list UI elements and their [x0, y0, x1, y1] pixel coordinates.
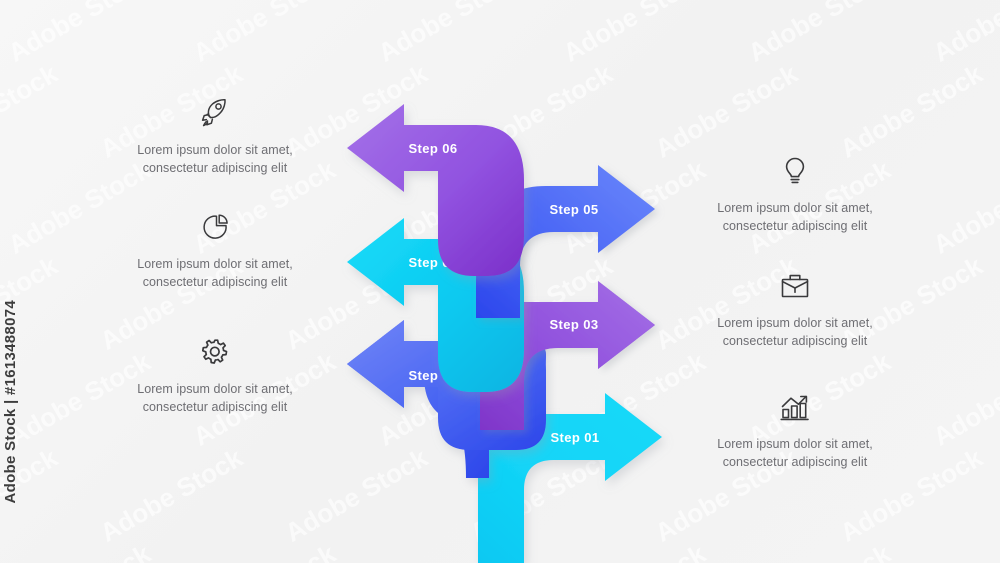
lightbulb-icon — [675, 150, 915, 192]
growth-chart-icon — [675, 386, 915, 428]
desc-line-1: Lorem ipsum dolor sit amet, — [95, 142, 335, 160]
desc-line-2: consectetur adipiscing elit — [675, 454, 915, 472]
desc-line-2: consectetur adipiscing elit — [675, 218, 915, 236]
side-item-left-2[interactable]: Lorem ipsum dolor sit amet, consectetur … — [95, 206, 335, 292]
side-item-right-2[interactable]: Lorem ipsum dolor sit amet, consectetur … — [675, 265, 915, 351]
arrow-step-03-label: Step 03 — [549, 317, 598, 332]
desc-line-1: Lorem ipsum dolor sit amet, — [95, 381, 335, 399]
desc-line-2: consectetur adipiscing elit — [95, 399, 335, 417]
desc-line-2: consectetur adipiscing elit — [95, 160, 335, 178]
desc-line-2: consectetur adipiscing elit — [675, 333, 915, 351]
arrow-step-06-label: Step 06 — [408, 141, 457, 156]
infographic-canvas: Adobe StockAdobe StockAdobe StockAdobe S… — [0, 0, 1000, 563]
arrow-step-05-label: Step 05 — [549, 202, 598, 217]
desc-line-1: Lorem ipsum dolor sit amet, — [95, 256, 335, 274]
stock-id-watermark: Adobe Stock | #1613488074 — [2, 300, 19, 503]
briefcase-icon — [675, 265, 915, 307]
side-item-left-1[interactable]: Lorem ipsum dolor sit amet, consectetur … — [95, 92, 335, 178]
desc-line-1: Lorem ipsum dolor sit amet, — [675, 200, 915, 218]
desc-line-2: consectetur adipiscing elit — [95, 274, 335, 292]
arrow-step-01-label: Step 01 — [550, 430, 599, 445]
rocket-icon — [95, 92, 335, 134]
side-item-left-3[interactable]: Lorem ipsum dolor sit amet, consectetur … — [95, 331, 335, 417]
desc-line-1: Lorem ipsum dolor sit amet, — [675, 315, 915, 333]
side-item-right-1[interactable]: Lorem ipsum dolor sit amet, consectetur … — [675, 150, 915, 236]
side-item-right-3-desc: Lorem ipsum dolor sit amet, consectetur … — [675, 436, 915, 472]
side-item-right-2-desc: Lorem ipsum dolor sit amet, consectetur … — [675, 315, 915, 351]
gear-icon — [95, 331, 335, 373]
desc-line-1: Lorem ipsum dolor sit amet, — [675, 436, 915, 454]
side-item-left-2-desc: Lorem ipsum dolor sit amet, consectetur … — [95, 256, 335, 292]
pie-chart-icon — [95, 206, 335, 248]
side-item-right-3[interactable]: Lorem ipsum dolor sit amet, consectetur … — [675, 386, 915, 472]
side-item-left-1-desc: Lorem ipsum dolor sit amet, consectetur … — [95, 142, 335, 178]
side-item-left-3-desc: Lorem ipsum dolor sit amet, consectetur … — [95, 381, 335, 417]
side-item-right-1-desc: Lorem ipsum dolor sit amet, consectetur … — [675, 200, 915, 236]
